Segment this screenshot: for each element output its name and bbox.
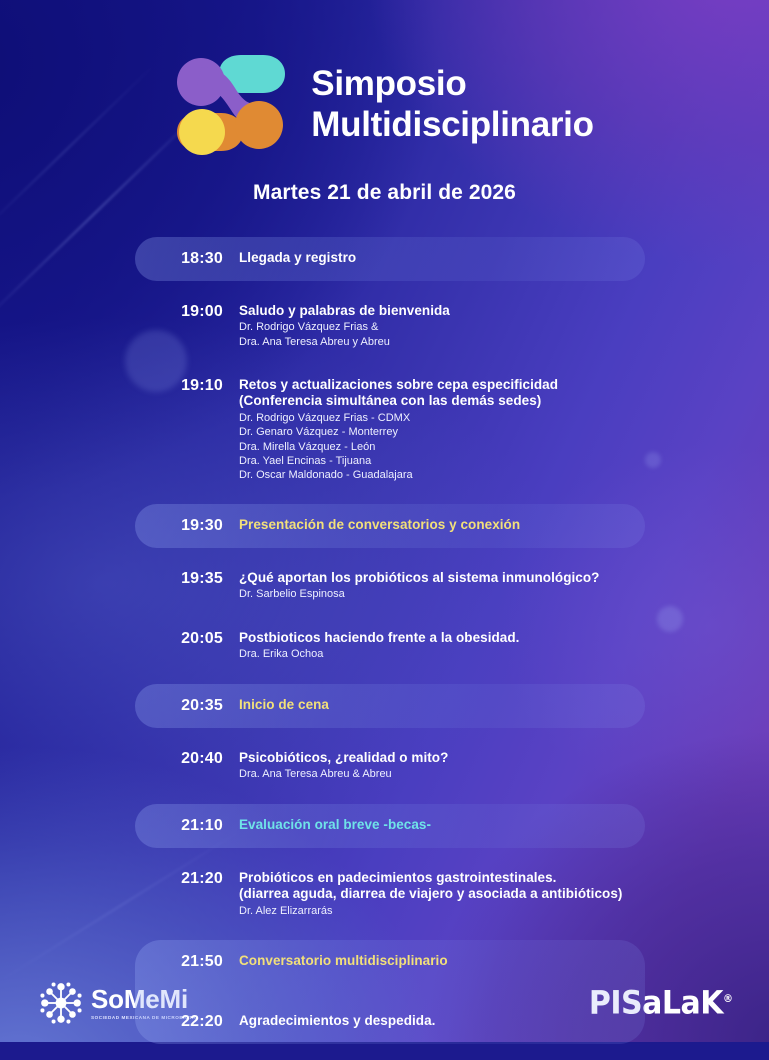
schedule-row: 19:00Saludo y palabras de bienvenidaDr. …	[0, 303, 769, 349]
schedule-row-title: Evaluación oral breve -becas-	[239, 817, 749, 833]
schedule-row-title-line: ¿Qué aportan los probióticos al sistema …	[239, 570, 749, 586]
poster-title-line-2: Multidisciplinario	[311, 105, 593, 146]
schedule-row-title-line: Saludo y palabras de bienvenida	[239, 303, 749, 319]
schedule-row-body: Llegada y registro	[239, 250, 749, 266]
schedule-row-time: 21:20	[135, 870, 239, 888]
schedule-row: 19:35¿Qué aportan los probióticos al sis…	[0, 570, 769, 602]
schedule-row-time: 19:30	[135, 517, 239, 535]
schedule-row-body: Conversatorio multidisciplinario	[239, 953, 749, 969]
schedule-row-title: Saludo y palabras de bienvenida	[239, 303, 749, 319]
schedule-rows: 18:30Llegada y registro19:00Saludo y pal…	[0, 229, 769, 1060]
simposio-s-logo-icon	[175, 52, 287, 157]
schedule-row: 21:10Evaluación oral breve -becas-	[0, 817, 769, 835]
poster-page: Simposio Multidisciplinario Martes 21 de…	[0, 0, 769, 1042]
poster-title-line-1: Simposio	[311, 64, 593, 105]
poster-header: Simposio Multidisciplinario	[0, 0, 769, 157]
schedule-row-title: Retos y actualizaciones sobre cepa espec…	[239, 377, 749, 410]
schedule-row-title-line: (Conferencia simultánea con las demás se…	[239, 393, 749, 409]
schedule-row-title: Llegada y registro	[239, 250, 749, 266]
schedule-row-title: ¿Qué aportan los probióticos al sistema …	[239, 570, 749, 586]
schedule-row-speakers: Dr. Rodrigo Vázquez Frias - CDMX Dr. Gen…	[239, 411, 749, 482]
schedule-row-body: Inicio de cena	[239, 697, 749, 713]
schedule-row-time: 19:00	[135, 303, 239, 321]
schedule-row: 21:20Probióticos en padecimientos gastro…	[0, 870, 769, 918]
schedule-row-time: 20:40	[135, 750, 239, 768]
schedule-row-body: ¿Qué aportan los probióticos al sistema …	[239, 570, 749, 602]
schedule-row-title-line: Conversatorio multidisciplinario	[239, 953, 749, 969]
schedule-row-title-line: Inicio de cena	[239, 697, 749, 713]
schedule-row-title-line: Agradecimientos y despedida.	[239, 1013, 749, 1029]
schedule-row-title: Presentación de conversatorios y conexió…	[239, 517, 749, 533]
schedule-row-title: Conversatorio multidisciplinario	[239, 953, 749, 969]
schedule-row-time: 19:35	[135, 570, 239, 588]
schedule-row-time: 20:35	[135, 697, 239, 715]
schedule-row-time: 21:10	[135, 817, 239, 835]
schedule-row-title-line: Probióticos en padecimientos gastrointes…	[239, 870, 749, 886]
event-date: Martes 21 de abril de 2026	[0, 181, 769, 205]
schedule-row-body: Saludo y palabras de bienvenidaDr. Rodri…	[239, 303, 749, 349]
schedule-row: 20:40Psicobióticos, ¿realidad o mito?Dra…	[0, 750, 769, 782]
schedule-row-body: Agradecimientos y despedida.	[239, 1013, 749, 1029]
schedule-row-speakers: Dr. Alez Elizarrarás	[239, 904, 749, 918]
schedule-row-time: 22:20	[135, 1013, 239, 1031]
schedule-list: 18:30Llegada y registro19:00Saludo y pal…	[0, 229, 769, 1060]
schedule-row: 18:30Llegada y registro	[0, 250, 769, 268]
schedule-row-title: Psicobióticos, ¿realidad o mito?	[239, 750, 749, 766]
schedule-row-body: Postbioticos haciendo frente a la obesid…	[239, 630, 749, 662]
schedule-row-title-line: Presentación de conversatorios y conexió…	[239, 517, 749, 533]
schedule-row-title-line: Llegada y registro	[239, 250, 749, 266]
schedule-row: 19:10Retos y actualizaciones sobre cepa …	[0, 377, 769, 482]
schedule-row-speakers: Dr. Rodrigo Vázquez Frias & Dra. Ana Ter…	[239, 320, 749, 349]
schedule-row-time: 19:10	[135, 377, 239, 395]
schedule-row-title-line: Retos y actualizaciones sobre cepa espec…	[239, 377, 749, 393]
schedule-row-body: Evaluación oral breve -becas-	[239, 817, 749, 833]
schedule-row-speakers: Dra. Erika Ochoa	[239, 647, 749, 661]
schedule-row-title: Agradecimientos y despedida.	[239, 1013, 749, 1029]
schedule-row: 20:35Inicio de cena	[0, 697, 769, 715]
schedule-row-speakers: Dra. Ana Teresa Abreu & Abreu	[239, 767, 749, 781]
schedule-row-time: 20:05	[135, 630, 239, 648]
poster-title-block: Simposio Multidisciplinario	[311, 64, 593, 146]
schedule-row: 21:50Conversatorio multidisciplinario	[0, 953, 769, 971]
schedule-row: 22:20Agradecimientos y despedida.	[0, 1013, 769, 1031]
schedule-row-title: Inicio de cena	[239, 697, 749, 713]
schedule-row-time: 18:30	[135, 250, 239, 268]
schedule-row-title-line: Psicobióticos, ¿realidad o mito?	[239, 750, 749, 766]
schedule-row-speakers: Dr. Sarbelio Espinosa	[239, 587, 749, 601]
schedule-row-title-line: (diarrea aguda, diarrea de viajero y aso…	[239, 886, 749, 902]
schedule-row-title: Probióticos en padecimientos gastrointes…	[239, 870, 749, 903]
schedule-row-body: Psicobióticos, ¿realidad o mito?Dra. Ana…	[239, 750, 749, 782]
schedule-row: 20:05Postbioticos haciendo frente a la o…	[0, 630, 769, 662]
schedule-row-title-line: Evaluación oral breve -becas-	[239, 817, 749, 833]
schedule-row-body: Retos y actualizaciones sobre cepa espec…	[239, 377, 749, 482]
schedule-row-body: Presentación de conversatorios y conexió…	[239, 517, 749, 533]
schedule-row-title-line: Postbioticos haciendo frente a la obesid…	[239, 630, 749, 646]
schedule-row: 19:30Presentación de conversatorios y co…	[0, 517, 769, 535]
schedule-row-title: Postbioticos haciendo frente a la obesid…	[239, 630, 749, 646]
schedule-row-time: 21:50	[135, 953, 239, 971]
schedule-row-body: Probióticos en padecimientos gastrointes…	[239, 870, 749, 918]
